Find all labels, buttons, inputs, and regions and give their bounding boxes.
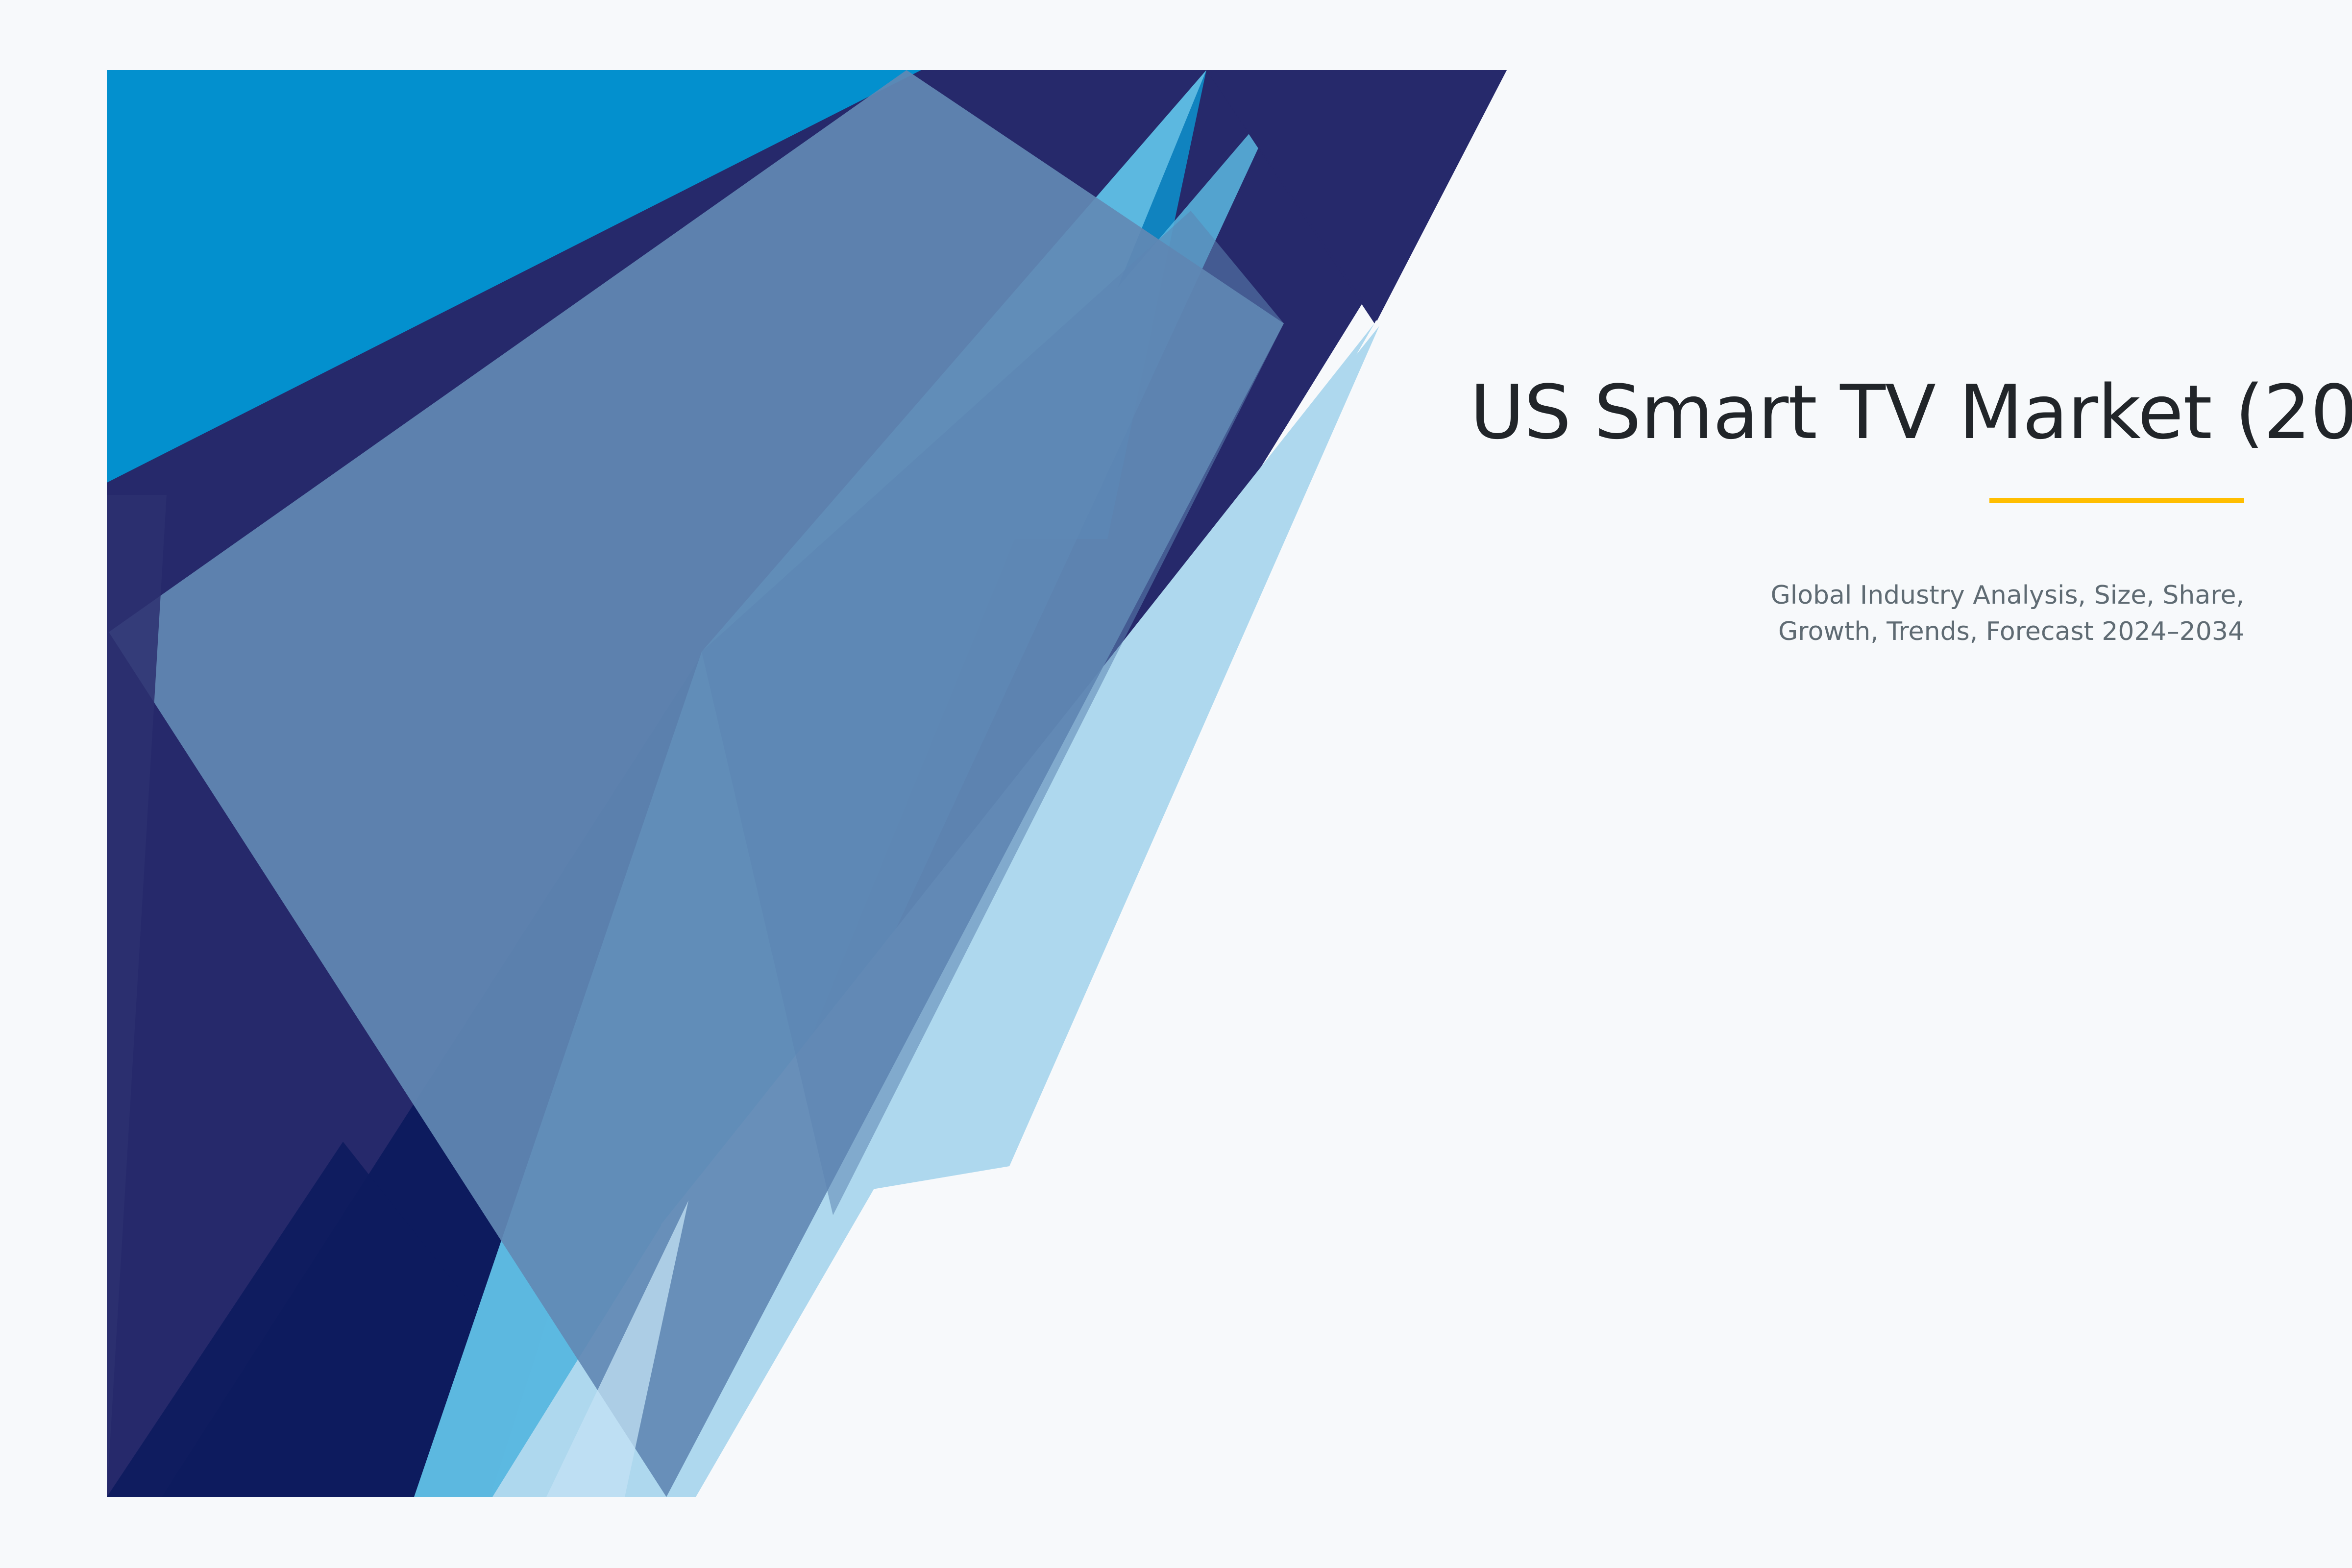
accent-rule [1989,498,2244,503]
page-title: US Smart TV Market (2024 - 2034) [1470,372,2244,453]
page-subtitle: Global Industry Analysis, Size, Share, G… [1470,578,2244,650]
title-text-block: US Smart TV Market (2024 - 2034) Global … [1470,372,2244,650]
subtitle-line-1: Global Industry Analysis, Size, Share, [1770,581,2244,610]
accent-rule-wrapper [1470,498,2244,503]
subtitle-line-2: Growth, Trends, Forecast 2024–2034 [1778,617,2244,646]
title-slide: US Smart TV Market (2024 - 2034) Global … [0,0,2352,1568]
abstract-polygon-cover-graphic [0,0,2352,1568]
